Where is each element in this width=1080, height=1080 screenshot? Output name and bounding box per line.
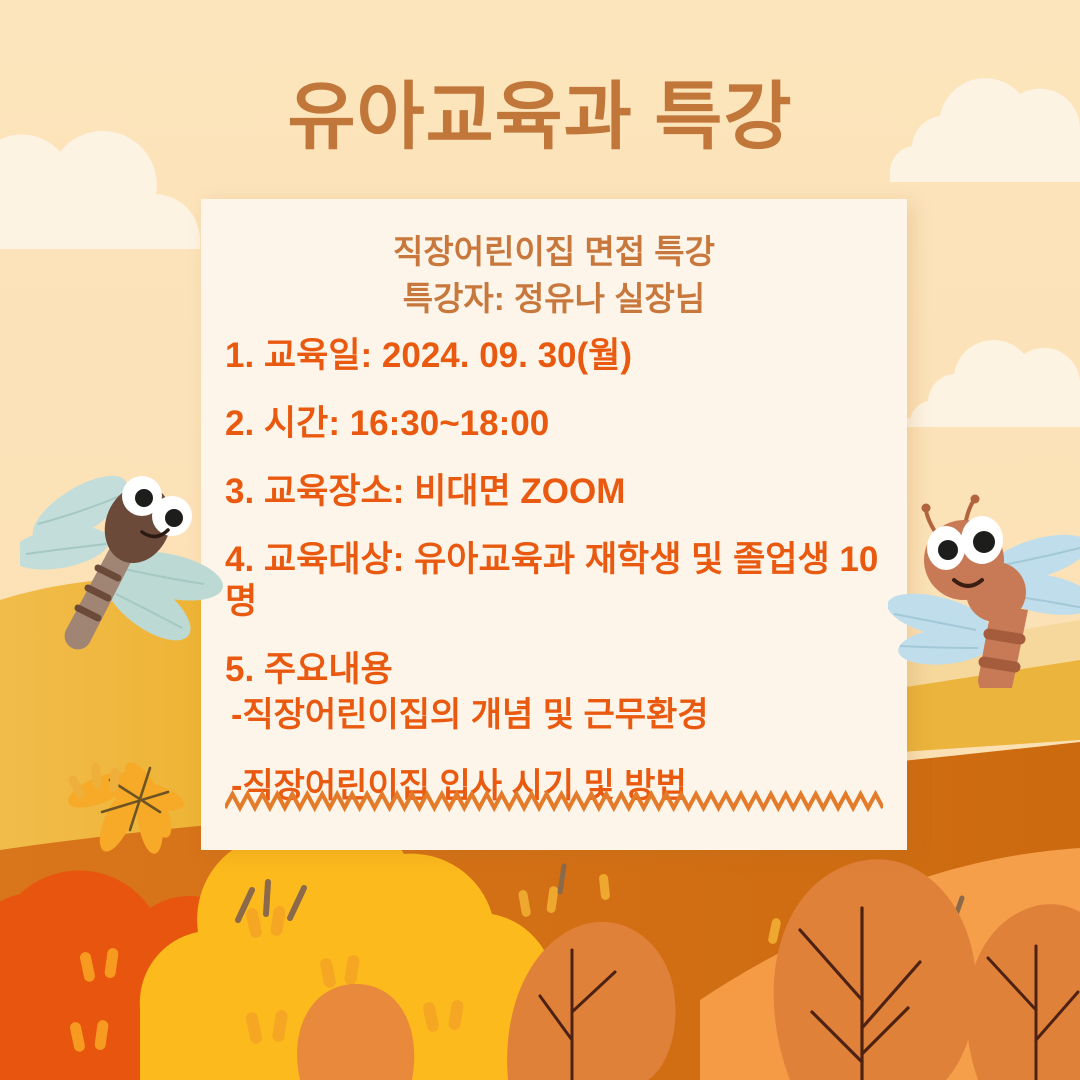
poster-canvas: 유아교육과 특강	[0, 0, 1080, 1080]
list-item: 1. 교육일: 2024. 09. 30(월)	[225, 335, 883, 377]
list-item: 2. 시간: 16:30~18:00	[225, 403, 883, 445]
list-item-label: 5. 주요내용	[225, 650, 393, 689]
zigzag-divider	[225, 790, 883, 816]
dragonfly-icon	[888, 488, 1080, 688]
list-item: 5. 주요내용 -직장어린이집의 개념 및 근무환경 -직장어린이집 입사 시기…	[225, 649, 883, 810]
card-heading: 직장어린이집 면접 특강 특강자: 정유나 실장님	[201, 199, 907, 323]
list-item: 3. 교육장소: 비대면 ZOOM	[225, 471, 883, 513]
detail-list: 1. 교육일: 2024. 09. 30(월) 2. 시간: 16:30~18:…	[201, 323, 907, 810]
card-heading-line-2: 특강자: 정유나 실장님	[201, 276, 907, 323]
sublist-item: -직장어린이집의 개념 및 근무환경	[231, 693, 883, 739]
info-card: 직장어린이집 면접 특강 특강자: 정유나 실장님 1. 교육일: 2024. …	[201, 199, 907, 850]
dragonfly-icon	[20, 448, 230, 658]
list-item: 4. 교육대상: 유아교육과 재학생 및 졸업생 10명	[225, 539, 883, 623]
page-title: 유아교육과 특강	[0, 78, 1080, 156]
card-heading-line-1: 직장어린이집 면접 특강	[393, 233, 715, 270]
